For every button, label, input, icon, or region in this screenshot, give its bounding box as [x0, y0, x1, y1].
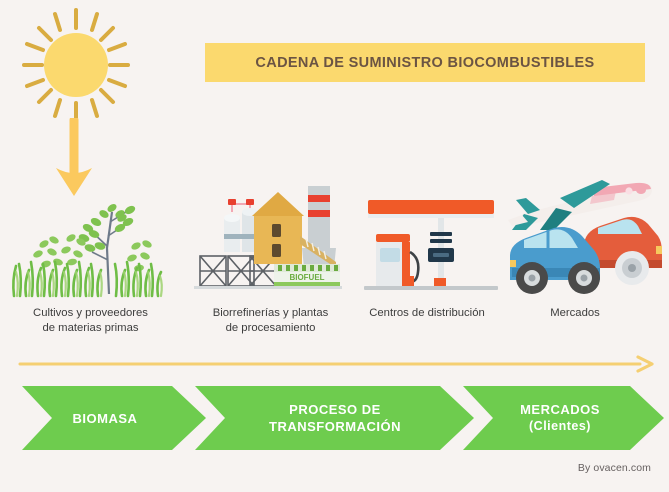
sun-icon	[14, 8, 138, 123]
chevron-sublabel: (Clientes)	[490, 418, 630, 435]
header-title-bar: CADENA DE SUMINISTRO BIOCOMBUSTIBLES	[205, 43, 645, 82]
caption-line: Cultivos y proveedores	[3, 306, 178, 321]
chevron-label-mercados: MERCADOS (Clientes)	[490, 401, 630, 435]
caption-line: Centros de distribución	[352, 306, 502, 321]
chevron-label-line: PROCESO DE	[225, 401, 445, 418]
stage-caption-refinery: Biorrefinerías y plantas de procesamient…	[188, 306, 353, 336]
chevron-label-biomasa: BIOMASA	[30, 410, 180, 427]
stage-caption-markets: Mercados	[505, 306, 645, 321]
stage-caption-crops: Cultivos y proveedores de materias prima…	[3, 306, 178, 336]
vehicles-markets-icon	[498, 168, 666, 294]
caption-line: Mercados	[505, 306, 645, 321]
caption-line: de procesamiento	[188, 321, 353, 336]
fuel-station-icon	[362, 196, 500, 294]
chevron-label-line: BIOMASA	[30, 410, 180, 427]
stage-caption-station: Centros de distribución	[352, 306, 502, 321]
biorefinery-plant-icon: BIOFUEL	[190, 182, 345, 294]
chevron-label-proceso: PROCESO DE TRANSFORMACIÓN	[225, 401, 445, 435]
arrow-right-long-icon	[18, 354, 654, 374]
crops-grass-icon	[8, 186, 174, 298]
caption-line: Biorrefinerías y plantas	[188, 306, 353, 321]
page-title: CADENA DE SUMINISTRO BIOCOMBUSTIBLES	[255, 55, 594, 71]
biofuel-label: BIOFUEL	[289, 273, 324, 282]
chevron-label-line: TRANSFORMACIÓN	[225, 418, 445, 435]
footer-credit: By ovacen.com	[578, 462, 651, 474]
chevron-label-line: MERCADOS	[490, 401, 630, 418]
caption-line: de materias primas	[3, 321, 178, 336]
